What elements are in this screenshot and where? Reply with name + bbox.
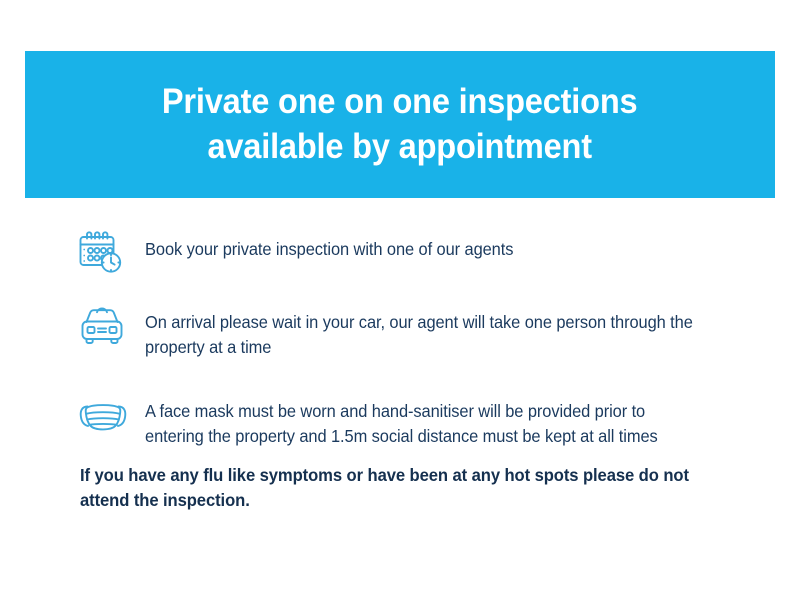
list-item: A face mask must be worn and hand-saniti…: [78, 390, 738, 449]
list-item: Book your private inspection with one of…: [78, 228, 738, 278]
list-item: On arrival please wait in your car, our …: [78, 301, 738, 360]
calendar-clock-icon: [78, 228, 130, 278]
list-item-label: Book your private inspection with one of…: [130, 228, 702, 262]
instruction-list: Book your private inspection with one of…: [78, 228, 738, 449]
banner-title-line-2: available by appointment: [208, 125, 592, 170]
list-item-label: A face mask must be worn and hand-saniti…: [130, 390, 702, 449]
face-mask-icon: [78, 390, 130, 440]
list-item-label: On arrival please wait in your car, our …: [130, 301, 702, 360]
banner-title-line-1: Private one on one inspections: [162, 80, 638, 125]
car-front-icon: [78, 301, 130, 351]
inspection-notice-poster: Private one on one inspections available…: [0, 0, 800, 600]
footer-warning-note: If you have any flu like symptoms or hav…: [80, 463, 707, 514]
header-banner: Private one on one inspections available…: [25, 51, 775, 198]
